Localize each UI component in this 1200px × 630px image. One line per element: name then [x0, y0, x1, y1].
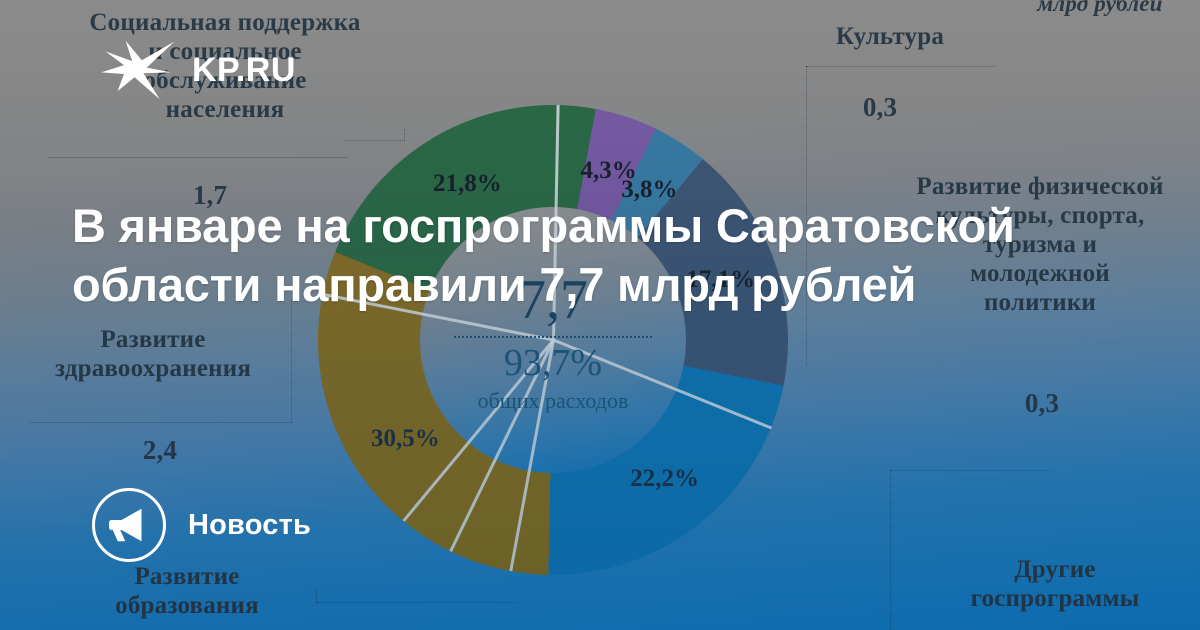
status-badge[interactable]: Новость [92, 488, 311, 562]
swallow-bird-icon [96, 40, 178, 100]
megaphone-icon [109, 505, 149, 545]
brand-name: KP.RU [192, 51, 296, 90]
badge-circle [92, 488, 166, 562]
news-share-card: млрд рублей Социальная поддержка и социа… [0, 0, 1200, 630]
brand-logo[interactable]: KP.RU [96, 40, 296, 100]
status-badge-label: Новость [188, 509, 311, 542]
page-title: В январе на госпрограммы Саратовской обл… [72, 196, 1152, 314]
